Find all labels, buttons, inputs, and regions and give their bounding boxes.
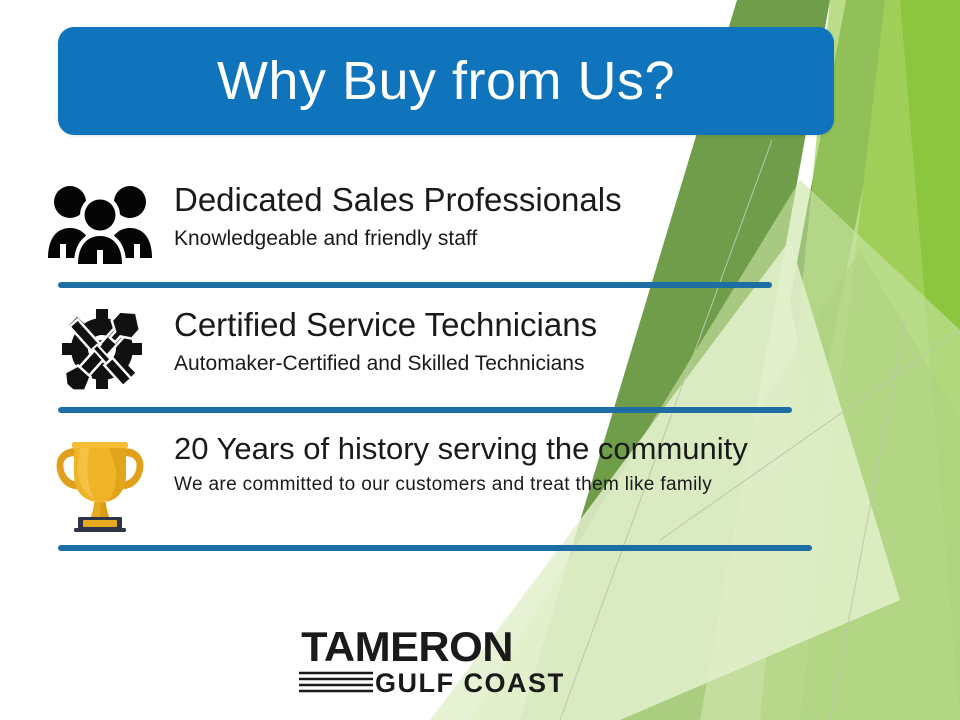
feature-copy: Certified Service Technicians Automaker-…: [162, 305, 597, 376]
title-banner: Why Buy from Us?: [58, 27, 834, 135]
trophy-icon: [38, 430, 162, 532]
feature-copy: 20 Years of history serving the communit…: [162, 430, 748, 497]
feature-row: 20 Years of history serving the communit…: [38, 430, 748, 532]
feature-heading: Certified Service Technicians: [174, 307, 597, 344]
page-title: Why Buy from Us?: [217, 54, 675, 108]
feature-copy: Dedicated Sales Professionals Knowledgea…: [162, 180, 622, 251]
feature-subtext: Knowledgeable and friendly staff: [174, 226, 622, 251]
logo-primary-text: TAMERON: [301, 624, 513, 671]
logo-secondary-text: GULF COAST: [375, 668, 563, 695]
feature-subtext: Automaker-Certified and Skilled Technici…: [174, 351, 597, 376]
slide-canvas: Why Buy from Us? Dedicated Sa: [0, 0, 960, 720]
tameron-gulf-coast-logo: TAMERON GULF COAST: [295, 623, 563, 695]
section-divider: [58, 407, 792, 413]
logo-speed-lines: [299, 673, 373, 691]
feature-subtext: We are committed to our customers and tr…: [174, 474, 748, 497]
feature-row: Dedicated Sales Professionals Knowledgea…: [38, 180, 622, 264]
people-group-icon: [38, 180, 162, 264]
feature-heading: Dedicated Sales Professionals: [174, 182, 622, 219]
section-divider: [58, 282, 772, 288]
hairline-3: [830, 320, 905, 720]
feature-heading: 20 Years of history serving the communit…: [174, 432, 748, 467]
feature-row: Certified Service Technicians Automaker-…: [38, 305, 597, 399]
section-divider: [58, 545, 812, 551]
gear-wrench-screwdriver-icon: [38, 305, 162, 399]
